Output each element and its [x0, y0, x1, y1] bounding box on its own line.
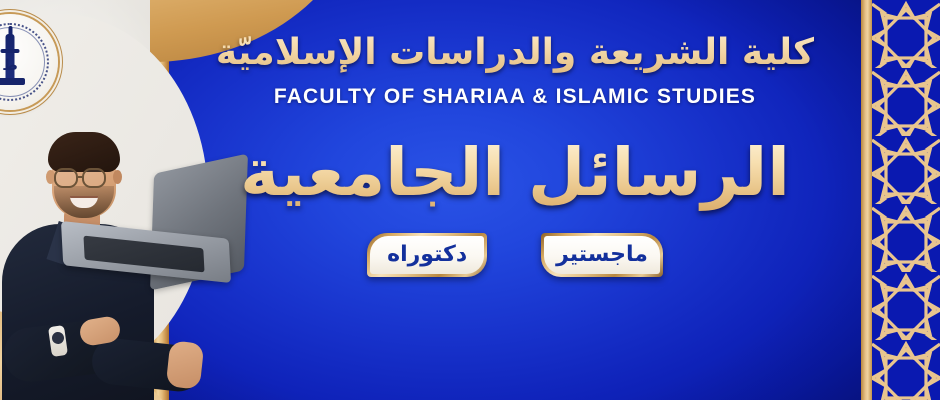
- degree-badges: دكتوراه ماجستير: [367, 233, 663, 277]
- headline-arabic: الرسائل الجامعية: [240, 135, 790, 211]
- gold-pattern-stripe: [861, 0, 872, 400]
- banner-content: كلية الشريعة والدراسات الإسلاميّة FACULT…: [170, 0, 860, 400]
- faculty-title-arabic: كلية الشريعة والدراسات الإسلاميّة: [216, 30, 814, 75]
- seal-arabic-letter: ط: [2, 58, 18, 73]
- badge-doctorate-label: دكتوراه: [375, 244, 479, 266]
- badge-doctorate-inner: دكتوراه: [370, 236, 484, 274]
- badge-masters[interactable]: ماجستير: [541, 233, 663, 277]
- person-hair: [48, 132, 120, 172]
- faculty-title-english: FACULTY OF SHARIAA & ISLAMIC STUDIES: [274, 85, 756, 109]
- seal-base-bar: [0, 78, 25, 85]
- islamic-star-pattern: [872, 0, 940, 400]
- badge-masters-inner: ماجستير: [544, 236, 660, 274]
- faculty-theses-banner: ط ك: [0, 0, 940, 400]
- badge-masters-label: ماجستير: [544, 244, 660, 266]
- badge-doctorate[interactable]: دكتوراه: [367, 233, 487, 277]
